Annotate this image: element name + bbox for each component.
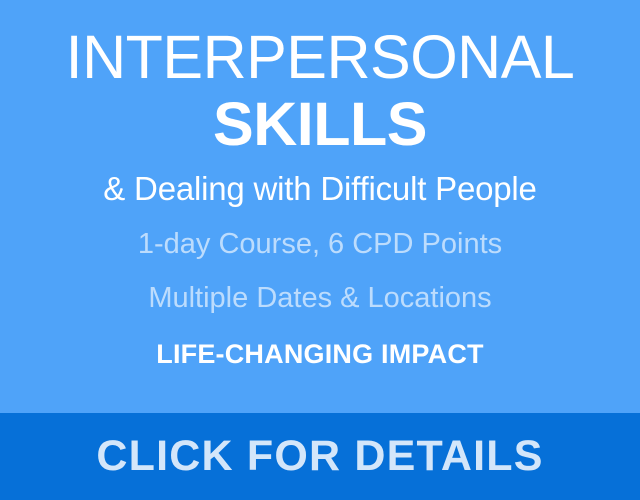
headline-line-2: SKILLS [213,93,427,155]
advertisement-banner[interactable]: INTERPERSONAL SKILLS & Dealing with Diff… [0,0,640,500]
cta-button[interactable]: CLICK FOR DETAILS [0,413,640,500]
cta-button-label: CLICK FOR DETAILS [96,432,543,481]
impact-tagline: LIFE-CHANGING IMPACT [156,339,483,370]
subheadline: & Dealing with Difficult People [103,171,536,207]
detail-dates-locations: Multiple Dates & Locations [148,283,491,315]
detail-course-duration: 1-day Course, 6 CPD Points [138,229,502,261]
banner-message-area: INTERPERSONAL SKILLS & Dealing with Diff… [0,0,640,413]
headline-line-1: INTERPERSONAL [66,28,575,87]
